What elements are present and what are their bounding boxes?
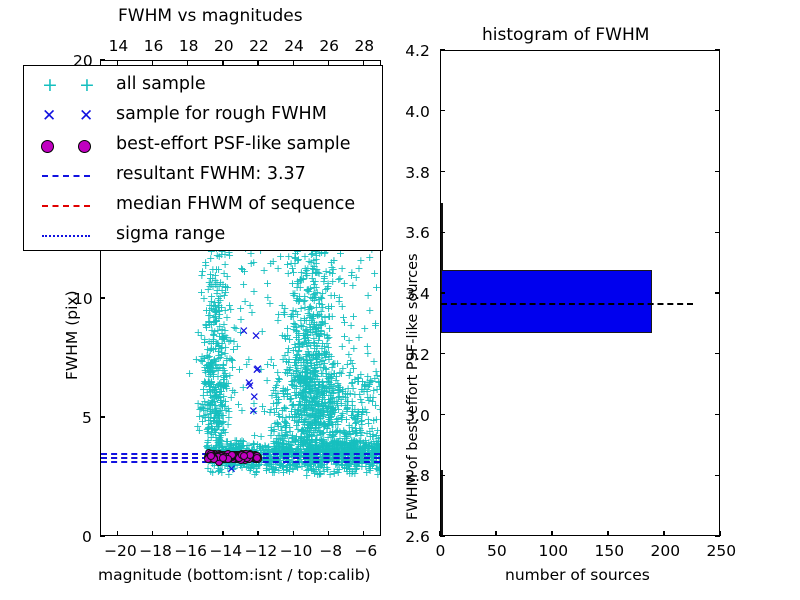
dashed-line-icon (24, 160, 110, 191)
scatter-point-all-sample: + (213, 410, 222, 417)
scatter-point-all-sample: + (327, 259, 336, 266)
scatter-point-all-sample: + (328, 361, 337, 368)
left-xtick-label-bottom: −18 (139, 542, 172, 560)
right-ytick (440, 353, 445, 354)
scatter-point-all-sample: + (283, 349, 292, 356)
scatter-point-all-sample: + (315, 412, 324, 419)
scatter-point-all-sample: + (337, 265, 346, 272)
right-yaxis-label: FWHM of best-effort PSF-like sources (405, 253, 421, 520)
scatter-point-all-sample: + (278, 414, 287, 421)
left-xtick-label-bottom: −16 (174, 542, 207, 560)
left-xtick-label-bottom: −8 (319, 542, 342, 560)
right-ytick-mirror (715, 535, 720, 536)
left-xtick-label-top: 20 (214, 37, 234, 55)
dashed-line-glyph (42, 175, 90, 177)
scatter-point-all-sample: + (340, 280, 349, 287)
scatter-point-all-sample: + (193, 423, 202, 430)
scatter-point-rough-fwhm: ✕ (251, 332, 261, 340)
scatter-point-all-sample: + (344, 337, 353, 344)
scatter-point-all-sample: + (326, 403, 335, 410)
plus-marker-icon: ++ (24, 70, 110, 101)
left-xtick-label-bottom: −6 (354, 542, 377, 560)
scatter-point-all-sample: + (304, 443, 313, 450)
scatter-point-all-sample: + (283, 390, 292, 397)
left-xtick-label-bottom: −20 (104, 542, 137, 560)
figure-canvas: FWHM vs magnitudes +++++++++++++++++++++… (0, 0, 800, 600)
scatter-point-all-sample: + (237, 442, 246, 449)
scatter-point-all-sample: + (278, 332, 287, 339)
scatter-point-all-sample: + (369, 358, 378, 365)
scatter-point-all-sample: + (225, 302, 234, 309)
scatter-point-all-sample: + (262, 377, 271, 384)
scatter-point-all-sample: + (378, 471, 381, 478)
histogram-bar (441, 270, 652, 334)
right-xtick-label: 200 (651, 542, 681, 560)
scatter-point-all-sample: + (349, 313, 358, 320)
scatter-point-all-sample: + (223, 273, 232, 280)
right-ytick (440, 49, 445, 50)
scatter-point-all-sample: + (330, 292, 339, 299)
scatter-point-all-sample: + (207, 281, 216, 288)
legend-item[interactable]: median FHWM of sequence (24, 190, 382, 221)
scatter-point-all-sample: + (207, 305, 216, 312)
histogram-bar (441, 470, 443, 536)
left-xtick-bottom (363, 531, 364, 536)
scatter-point-all-sample: + (285, 366, 294, 373)
scatter-point-all-sample: + (287, 378, 296, 385)
scatter-point-all-sample: + (306, 383, 315, 390)
scatter-point-rough-fwhm: ✕ (252, 366, 262, 374)
scatter-point-all-sample: + (197, 289, 206, 296)
left-xtick-bottom (293, 531, 294, 536)
circle-glyph (78, 140, 91, 153)
scatter-point-all-sample: + (363, 343, 372, 350)
left-ytick (100, 535, 105, 536)
scatter-point-all-sample: + (324, 434, 333, 441)
scatter-point-all-sample: + (269, 362, 278, 369)
legend-item[interactable]: resultant FWHM: 3.37 (24, 160, 382, 191)
legend-item-label: sigma range (116, 224, 225, 244)
scatter-point-all-sample: + (347, 437, 356, 444)
right-ytick-label: 4.0 (405, 103, 430, 121)
right-xtick-label: 150 (595, 542, 625, 560)
left-xtick-label-top: 22 (249, 37, 269, 55)
scatter-point-all-sample: + (280, 404, 289, 411)
right-xtick-label: 50 (487, 542, 507, 560)
scatter-point-all-sample: + (216, 354, 225, 361)
dashed-line-icon (24, 190, 110, 221)
scatter-point-all-sample: + (265, 300, 274, 307)
left-xtick-bottom (187, 531, 188, 536)
circle-marker-icon (24, 130, 110, 161)
scatter-point-all-sample: + (209, 332, 218, 339)
scatter-point-all-sample: + (308, 313, 317, 320)
right-xtick (495, 531, 496, 536)
left-xaxis-label: magnitude (bottom:isnt / top:calib) (98, 566, 371, 584)
scatter-point-all-sample: + (238, 266, 247, 273)
right-xtick-label: 250 (707, 542, 737, 560)
right-ytick-mirror (715, 292, 720, 293)
plus-glyph: + (42, 74, 58, 96)
scatter-point-rough-fwhm: ✕ (239, 327, 249, 335)
legend-item[interactable]: ✕✕sample for rough FWHM (24, 100, 382, 131)
left-yaxis-label: FWHM (pix) (63, 290, 81, 380)
right-panel-title: histogram of FWHM (482, 25, 649, 45)
scatter-point-all-sample: + (207, 394, 216, 401)
histogram-bar (441, 203, 443, 270)
left-xtick-label-top: 26 (319, 37, 339, 55)
scatter-point-all-sample: + (207, 321, 216, 328)
legend-item-label: resultant FWHM: 3.37 (116, 164, 306, 184)
scatter-point-all-sample: + (358, 406, 367, 413)
scatter-point-all-sample: + (333, 427, 342, 434)
scatter-point-rough-fwhm: ✕ (245, 382, 255, 390)
scatter-point-all-sample: + (315, 250, 324, 257)
left-xtick-label-top: 28 (354, 37, 374, 55)
left-xtick-label-top: 24 (284, 37, 304, 55)
right-ytick (440, 414, 445, 415)
legend-item[interactable]: sigma range (24, 220, 382, 251)
left-xtick-bottom (117, 531, 118, 536)
left-xtick-label-top: 16 (144, 37, 164, 55)
cross-glyph: ✕ (42, 106, 56, 126)
scatter-point-all-sample: + (203, 365, 212, 372)
scatter-point-all-sample: + (334, 384, 343, 391)
scatter-point-all-sample: + (306, 360, 315, 367)
scatter-point-all-sample: + (294, 340, 303, 347)
scatter-point-all-sample: + (208, 469, 217, 476)
right-ytick-mirror (715, 49, 720, 50)
fwhm-histogram-plot (440, 50, 720, 536)
right-ytick-label: 3.8 (405, 164, 430, 182)
left-ytick-label: 5 (82, 409, 92, 427)
scatter-point-all-sample: + (359, 388, 368, 395)
scatter-point-all-sample: + (372, 284, 381, 291)
scatter-point-all-sample: + (205, 383, 214, 390)
left-xtick-bottom (152, 531, 153, 536)
right-ytick-mirror (715, 232, 720, 233)
scatter-point-all-sample: + (350, 376, 359, 383)
dashed-line-glyph (42, 205, 90, 207)
scatter-point-all-sample: + (207, 345, 216, 352)
right-ytick (440, 292, 445, 293)
right-xtick-label: 0 (436, 542, 446, 560)
scatter-point-psf-like (207, 452, 215, 460)
histogram-median-line (441, 303, 693, 305)
dashdot-line-glyph (42, 235, 90, 237)
right-xtick (607, 531, 608, 536)
right-xtick-label: 100 (539, 542, 569, 560)
legend-item[interactable]: ++all sample (24, 70, 382, 101)
scatter-point-all-sample: + (338, 303, 347, 310)
scatter-point-all-sample: + (299, 330, 308, 337)
scatter-point-all-sample: + (249, 288, 258, 295)
scatter-point-all-sample: + (269, 387, 278, 394)
dashdot-line-icon (24, 220, 110, 251)
scatter-point-all-sample: + (343, 404, 352, 411)
scatter-point-all-sample: + (343, 361, 352, 368)
legend-item-label: all sample (116, 74, 206, 94)
scatter-point-all-sample: + (313, 269, 322, 276)
right-ytick-mirror (715, 414, 720, 415)
right-ytick-label: 3.6 (405, 224, 430, 242)
scatter-point-all-sample: + (371, 320, 380, 327)
left-xtick-bottom (222, 531, 223, 536)
scatter-point-all-sample: + (370, 270, 379, 277)
left-ytick-label: 0 (82, 528, 92, 546)
scatter-point-all-sample: + (299, 427, 308, 434)
scatter-point-all-sample: + (285, 424, 294, 431)
left-xtick-bottom (328, 531, 329, 536)
scatter-point-all-sample: + (354, 334, 363, 341)
scatter-point-all-sample: + (316, 308, 325, 315)
scatter-point-all-sample: + (372, 416, 381, 423)
cross-glyph: ✕ (79, 106, 93, 126)
right-ytick-mirror (715, 353, 720, 354)
legend-item-label: median FHWM of sequence (116, 194, 355, 214)
scatter-point-rough-fwhm: ✕ (249, 393, 259, 401)
scatter-point-all-sample: + (372, 386, 381, 393)
plus-glyph: + (79, 74, 95, 96)
scatter-point-all-sample: + (320, 331, 329, 338)
left-xtick-label-top: 18 (179, 37, 199, 55)
right-ytick (440, 110, 445, 111)
scatter-point-all-sample: + (296, 355, 305, 362)
scatter-point-all-sample: + (258, 403, 267, 410)
right-ytick (440, 475, 445, 476)
right-xtick (663, 531, 664, 536)
left-xtick-label-bottom: −10 (280, 542, 313, 560)
left-xtick-bottom (257, 531, 258, 536)
scatter-point-all-sample: + (233, 343, 242, 350)
scatter-point-all-sample: + (309, 291, 318, 298)
scatter-point-all-sample: + (242, 361, 251, 368)
left-ytick (100, 59, 105, 60)
scatter-point-all-sample: + (320, 348, 329, 355)
scatter-point-all-sample: + (339, 314, 348, 321)
legend-item-label: best-effort PSF-like sample (116, 134, 351, 154)
right-ytick (440, 171, 445, 172)
legend-item[interactable]: best-effort PSF-like sample (24, 130, 382, 161)
scatter-point-all-sample: + (237, 407, 246, 414)
right-ytick-mirror (715, 110, 720, 111)
scatter-point-all-sample: + (263, 280, 272, 287)
scatter-point-all-sample: + (260, 267, 269, 274)
scatter-point-all-sample: + (352, 274, 361, 281)
left-xtick-label-top: 14 (109, 37, 129, 55)
scatter-point-all-sample: + (274, 311, 283, 318)
scatter-point-all-sample: + (284, 270, 293, 277)
scatter-point-all-sample: + (293, 365, 302, 372)
left-xtick-label-bottom: −14 (209, 542, 242, 560)
scatter-point-all-sample: + (278, 440, 287, 447)
scatter-point-all-sample: + (240, 298, 249, 305)
right-xtick (551, 531, 552, 536)
scatter-point-all-sample: + (228, 387, 237, 394)
scatter-point-all-sample: + (334, 443, 343, 450)
legend-box: ++all sample✕✕sample for rough FWHMbest-… (23, 65, 383, 251)
scatter-point-all-sample: + (199, 412, 208, 419)
right-ytick (440, 535, 445, 536)
scatter-point-rough-fwhm: ✕ (226, 465, 236, 473)
circle-glyph (41, 140, 54, 153)
right-ytick (440, 232, 445, 233)
scatter-point-all-sample: + (239, 281, 248, 288)
scatter-point-all-sample: + (213, 365, 222, 372)
scatter-point-all-sample: + (312, 343, 321, 350)
scatter-point-all-sample: + (284, 253, 293, 260)
scatter-point-rough-fwhm: ✕ (248, 407, 258, 415)
scatter-point-all-sample: + (354, 265, 363, 272)
right-ytick-label: 2.6 (405, 528, 430, 546)
right-ytick-mirror (715, 475, 720, 476)
scatter-point-all-sample: + (374, 435, 381, 442)
cross-marker-icon: ✕✕ (24, 100, 110, 131)
scatter-point-all-sample: + (247, 309, 256, 316)
scatter-point-all-sample: + (300, 409, 309, 416)
left-ytick (100, 297, 105, 298)
scatter-point-all-sample: + (365, 307, 374, 314)
scatter-point-all-sample: + (249, 259, 258, 266)
right-ytick-mirror (715, 171, 720, 172)
scatter-point-all-sample: + (185, 370, 194, 377)
scatter-point-all-sample: + (224, 405, 233, 412)
left-panel-title: FWHM vs magnitudes (118, 6, 303, 26)
scatter-point-all-sample: + (318, 319, 327, 326)
scatter-point-all-sample: + (212, 266, 221, 273)
left-ytick (100, 416, 105, 417)
scatter-point-all-sample: + (289, 313, 298, 320)
right-ytick-label: 4.2 (405, 42, 430, 60)
legend-item-label: sample for rough FWHM (116, 104, 327, 124)
right-xaxis-label: number of sources (505, 566, 650, 584)
left-xtick-label-bottom: −12 (245, 542, 278, 560)
scatter-point-all-sample: + (290, 290, 299, 297)
scatter-point-all-sample: + (228, 364, 237, 371)
